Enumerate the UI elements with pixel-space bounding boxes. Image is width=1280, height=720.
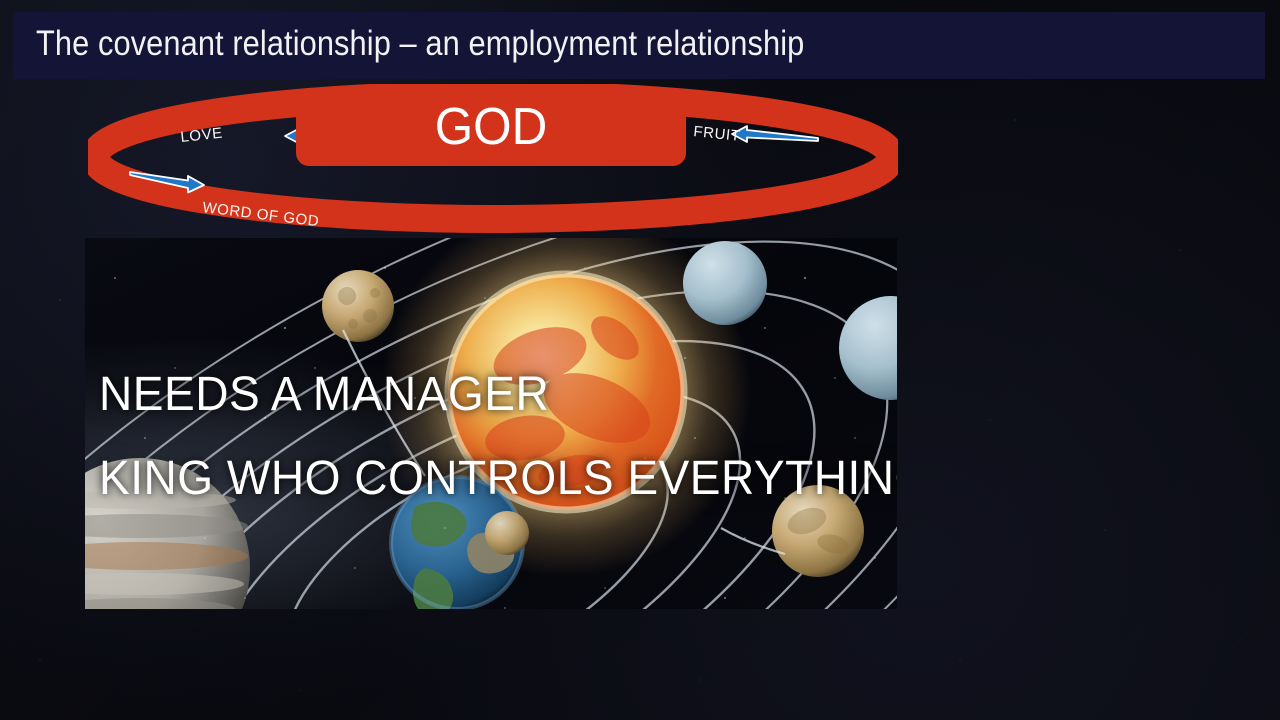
slide-title-band: The covenant relationship – an employmen… [13, 12, 1265, 79]
page-title: The covenant relationship – an employmen… [36, 10, 804, 77]
solar-system-image: NEEDS A MANAGER KING WHO CONTROLS EVERYT… [85, 238, 897, 609]
ring-label-love: LOVE [180, 125, 224, 146]
image-starfield [85, 238, 897, 609]
presentation-slide: The covenant relationship – an employmen… [0, 0, 1280, 720]
god-label: GOD [306, 88, 677, 166]
ring-label-fruit: FRUIT [693, 123, 742, 145]
god-box: GOD [296, 88, 686, 166]
